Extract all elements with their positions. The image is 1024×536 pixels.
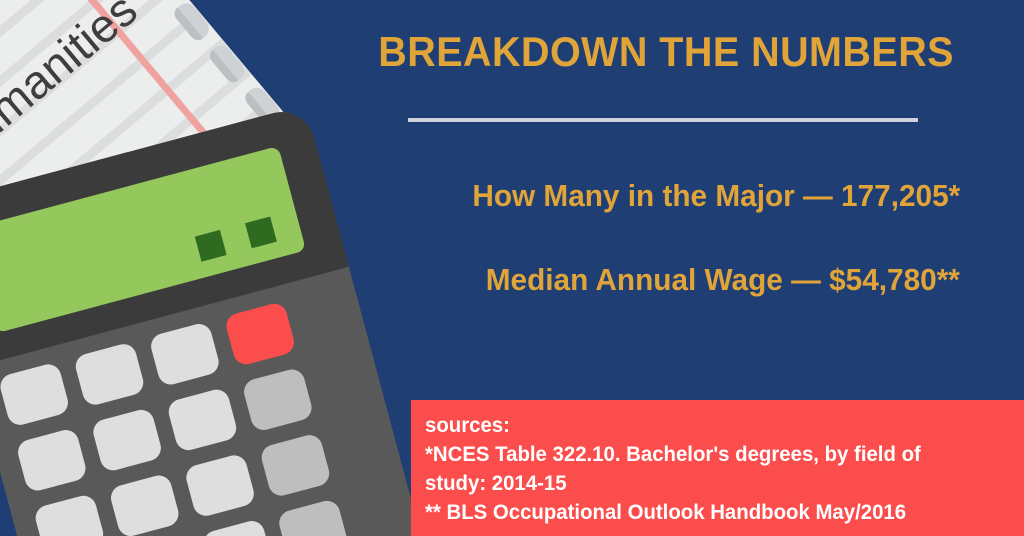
calculator-key[interactable] (33, 493, 106, 536)
calculator-key[interactable] (90, 407, 163, 473)
calculator-key-operator[interactable] (276, 498, 349, 536)
calculator-key-operator[interactable] (241, 367, 314, 433)
sources-line-bls: ** BLS Occupational Outlook Handbook May… (425, 498, 1006, 527)
calculator-key[interactable] (166, 387, 239, 453)
title-divider (408, 118, 918, 122)
calculator-screen-indicator (245, 216, 277, 248)
page-title: BREAKDOWN THE NUMBERS (378, 28, 950, 76)
stat-line-major-count: How Many in the Major — 177,205* (472, 178, 960, 214)
sources-line-nces-2: study: 2014-15 (425, 469, 1006, 498)
infographic-canvas: Humanities BRE (0, 0, 1024, 536)
sources-box: sources: *NCES Table 322.10. Bachelor's … (411, 400, 1024, 536)
calculator-key[interactable] (183, 452, 256, 518)
calculator-key[interactable] (201, 518, 274, 536)
sources-line-nces-1: *NCES Table 322.10. Bachelor's degrees, … (425, 440, 1006, 469)
content-column: BREAKDOWN THE NUMBERS How Many in the Ma… (360, 0, 1024, 536)
calculator-screen-indicator (195, 230, 227, 262)
stat-line-median-wage: Median Annual Wage — $54,780** (486, 262, 960, 298)
calculator-key[interactable] (15, 427, 88, 493)
calculator-key[interactable] (108, 473, 181, 536)
sources-heading: sources: (425, 411, 1006, 440)
calculator-key-operator[interactable] (259, 432, 332, 498)
